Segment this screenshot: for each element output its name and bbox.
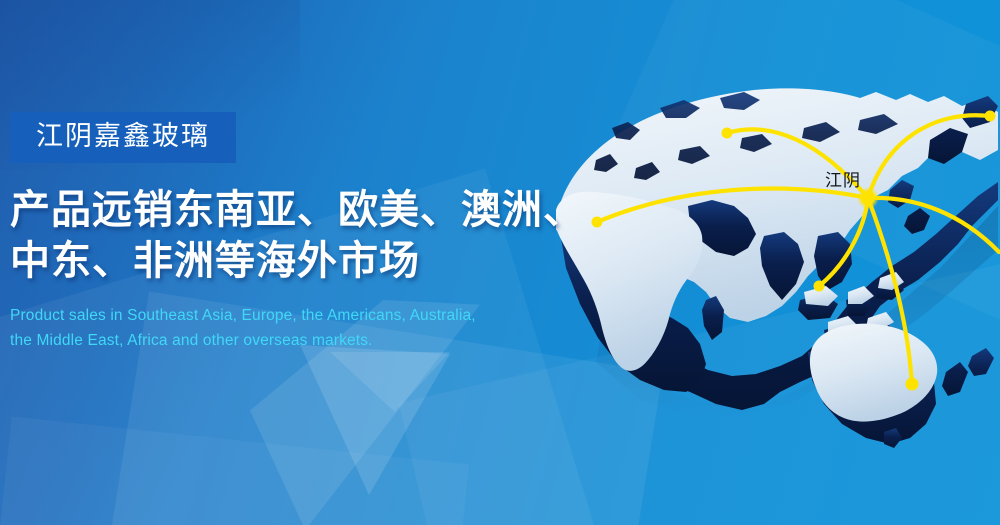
subtitle: Product sales in Southeast Asia, Europe,… xyxy=(10,303,570,353)
map-hub-label: 江阴 xyxy=(825,166,861,191)
company-name-badge: 江阴嘉鑫玻璃 xyxy=(10,112,236,163)
headline-line-1: 产品远销东南亚、欧美、澳洲、 xyxy=(10,185,570,236)
background-triangle-small xyxy=(330,352,450,412)
headline: 产品远销东南亚、欧美、澳洲、 中东、非洲等海外市场 xyxy=(10,185,570,287)
banner-text-block: 江阴嘉鑫玻璃 产品远销东南亚、欧美、澳洲、 中东、非洲等海外市场 Product… xyxy=(10,112,570,354)
node-northern-europe xyxy=(722,128,733,139)
node-southeast-asia xyxy=(814,281,825,292)
background-triangle-mid xyxy=(300,345,450,495)
promo-banner: 江阴 江阴嘉鑫玻璃 产品远销东南亚、欧美、澳洲、 中东、非洲等海外市场 Prod… xyxy=(0,0,1000,525)
subtitle-line-2: the Middle East, Africa and other overse… xyxy=(10,328,570,353)
subtitle-line-1: Product sales in Southeast Asia, Europe,… xyxy=(10,303,570,328)
headline-line-2: 中东、非洲等海外市场 xyxy=(10,236,570,287)
node-west-africa xyxy=(592,217,603,228)
map-landmasses xyxy=(556,88,999,448)
background-facet-bottom xyxy=(0,417,469,525)
node-northeast-asia xyxy=(985,111,996,122)
world-map-illustration xyxy=(520,0,1000,470)
new-zealand xyxy=(942,348,994,396)
node-australia xyxy=(906,378,919,391)
node-hub-core xyxy=(862,192,875,205)
